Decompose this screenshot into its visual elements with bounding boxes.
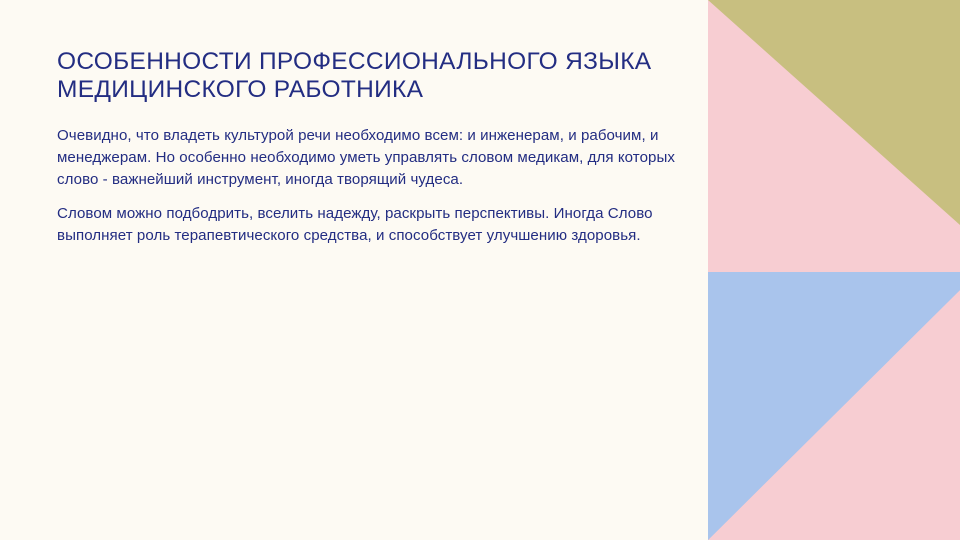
decorative-panel	[708, 0, 960, 540]
paragraph-1: Очевидно, что владеть культурой речи нео…	[57, 125, 677, 192]
page-title: ОСОБЕННОСТИ ПРОФЕССИОНАЛЬНОГО ЯЗЫКА МЕДИ…	[57, 0, 677, 103]
paragraph-2: Словом можно подбодрить, вселить надежду…	[57, 203, 677, 247]
slide-canvas: ОСОБЕННОСТИ ПРОФЕССИОНАЛЬНОГО ЯЗЫКА МЕДИ…	[0, 0, 960, 540]
body-copy: Очевидно, что владеть культурой речи нео…	[57, 125, 677, 247]
slide-content: ОСОБЕННОСТИ ПРОФЕССИОНАЛЬНОГО ЯЗЫКА МЕДИ…	[57, 0, 677, 247]
